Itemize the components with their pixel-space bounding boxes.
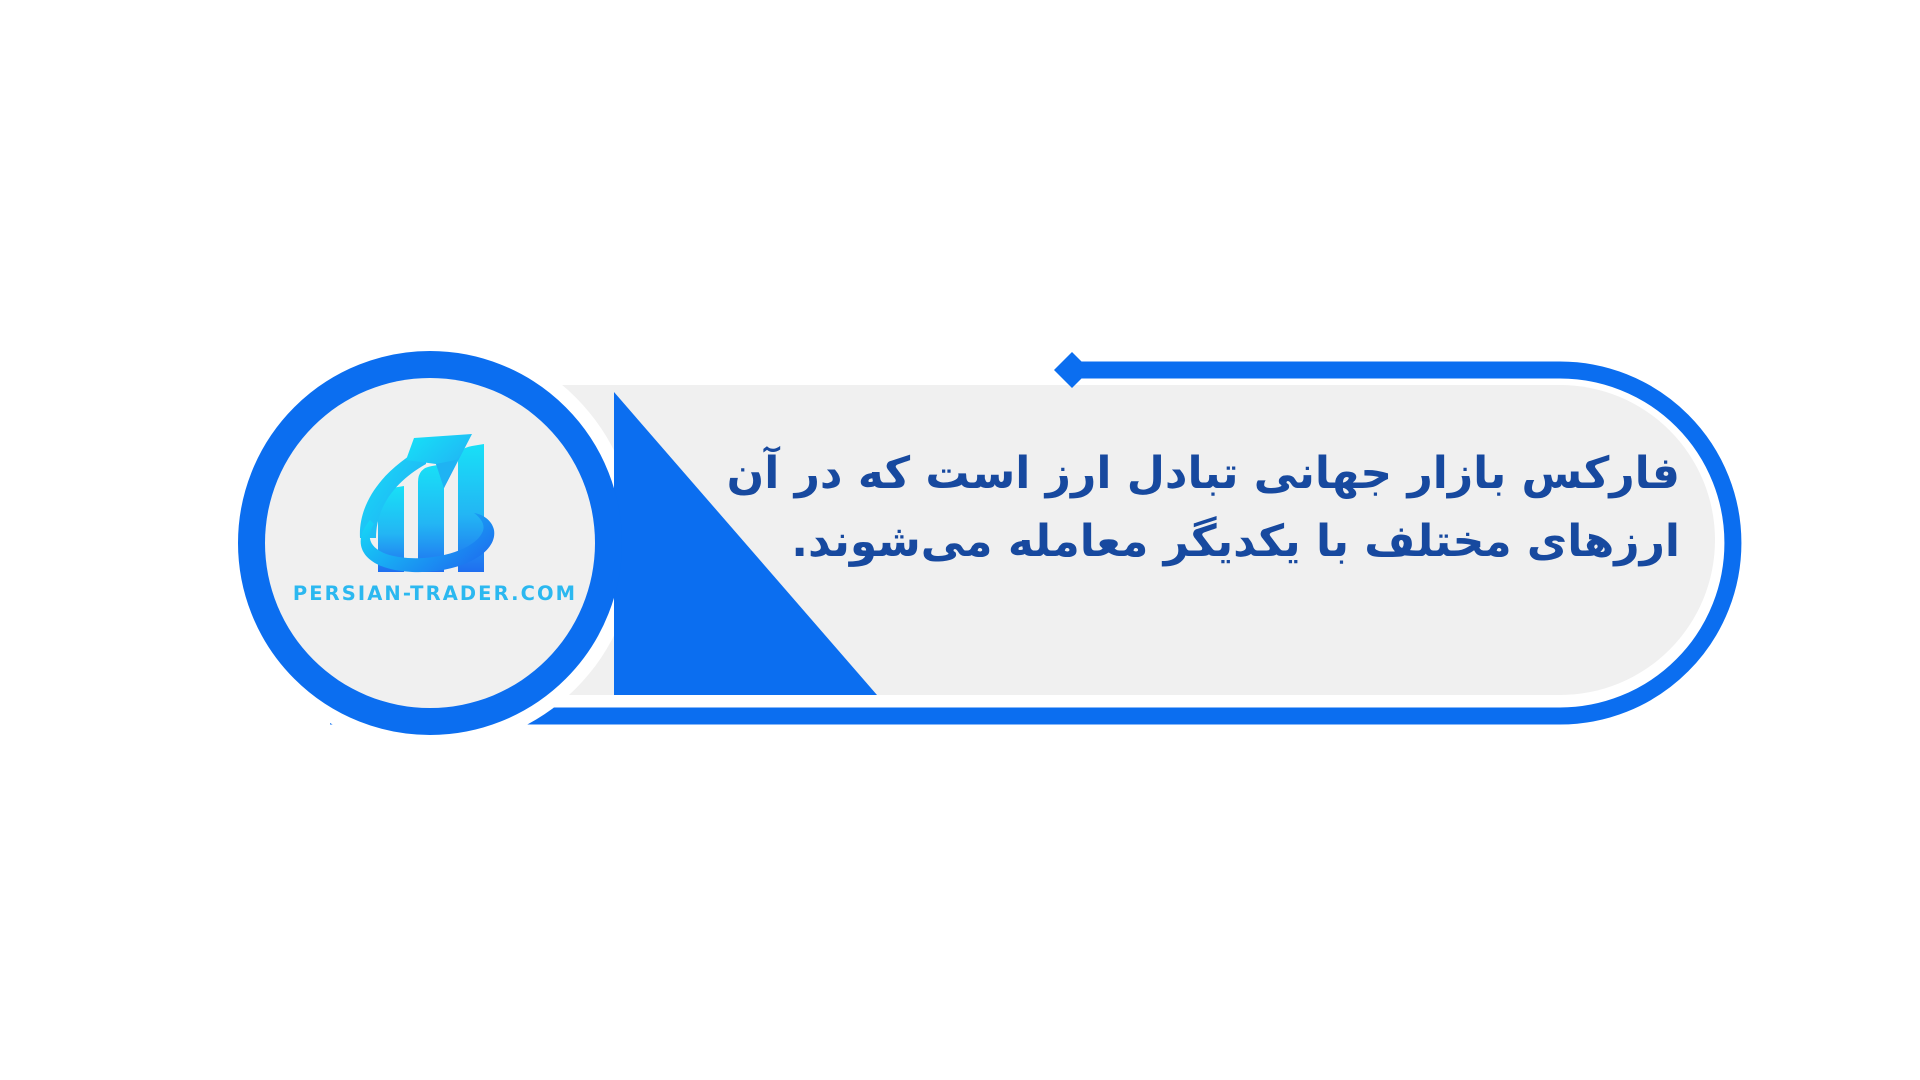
diamond-notch-icon [1054, 352, 1090, 388]
ascending-bars-arrow-swoosh-icon [340, 420, 530, 580]
logo-wordmark: PERSIAN-TRADER.COM [293, 582, 577, 605]
callout-stage: PERSIAN-TRADER.COM فارکس بازار جهانی تبا… [0, 0, 1920, 1080]
callout-graphic [0, 0, 1920, 1080]
logo-lockup[interactable]: PERSIAN-TRADER.COM [300, 420, 570, 640]
